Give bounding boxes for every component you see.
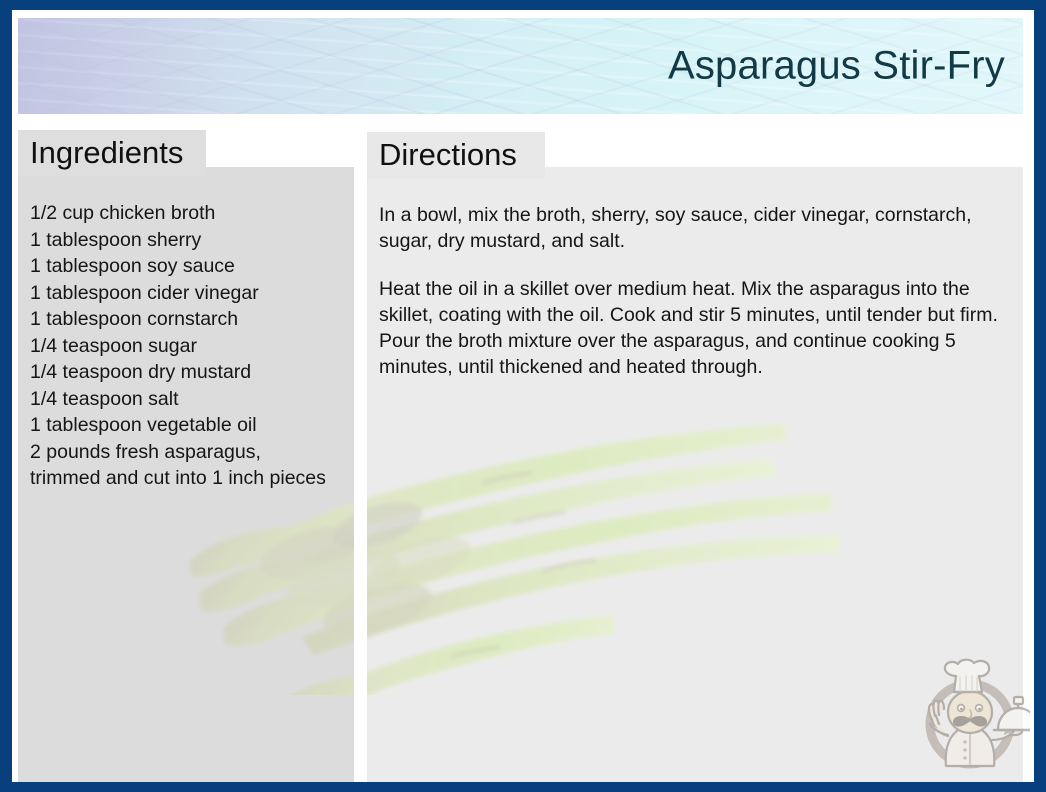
recipe-card-inner: Asparagus Stir-Fry	[12, 10, 1034, 782]
ingredient-item: 1 tablespoon sherry	[30, 227, 376, 254]
ingredient-item: 1 tablespoon vegetable oil	[30, 412, 376, 439]
chef-mascot-logo	[910, 658, 1030, 778]
ingredient-item: trimmed and cut into 1 inch pieces	[30, 465, 376, 492]
ingredient-item: 1 tablespoon cider vinegar	[30, 280, 376, 307]
direction-step: Heat the oil in a skillet over medium he…	[379, 276, 1019, 380]
ingredient-item: 2 pounds fresh asparagus,	[30, 439, 376, 466]
ingredient-item: 1/4 teaspoon salt	[30, 386, 376, 413]
tab-directions[interactable]: Directions	[367, 132, 545, 178]
ingredient-item: 1/4 teaspoon sugar	[30, 333, 376, 360]
tab-ingredients-label: Ingredients	[18, 130, 206, 176]
ingredients-list: 1/2 cup chicken broth1 tablespoon sherry…	[30, 200, 376, 492]
ingredient-item: 1/2 cup chicken broth	[30, 200, 376, 227]
page-title: Asparagus Stir-Fry	[668, 44, 1005, 89]
ingredient-item: 1 tablespoon cornstarch	[30, 306, 376, 333]
tab-directions-label: Directions	[367, 132, 545, 178]
direction-step: In a bowl, mix the broth, sherry, soy sa…	[379, 202, 1019, 254]
directions-text: In a bowl, mix the broth, sherry, soy sa…	[379, 202, 1019, 380]
ingredient-item: 1/4 teaspoon dry mustard	[30, 359, 376, 386]
recipe-card: Asparagus Stir-Fry	[0, 0, 1046, 792]
header-banner: Asparagus Stir-Fry	[18, 18, 1023, 114]
tab-ingredients[interactable]: Ingredients	[18, 130, 206, 176]
ingredient-item: 1 tablespoon soy sauce	[30, 253, 376, 280]
